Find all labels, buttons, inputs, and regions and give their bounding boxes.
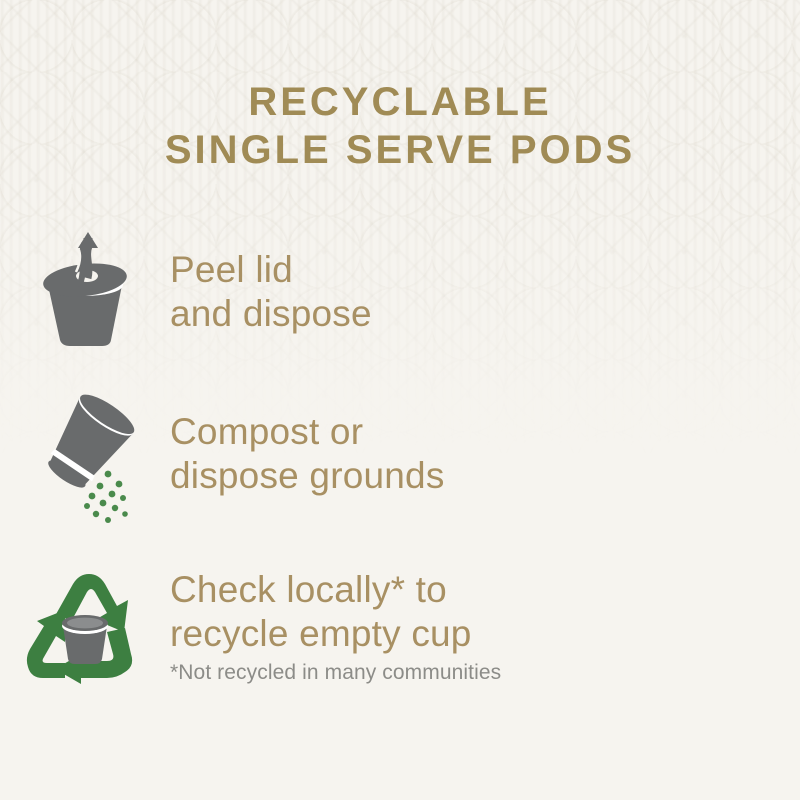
step-compost-grounds-text: Compost or dispose grounds [170, 410, 445, 498]
recycle-pod-icon [0, 558, 170, 685]
page-title: RECYCLABLE SINGLE SERVE PODS [0, 78, 800, 174]
steps-list: Peel lid and dispose [0, 222, 800, 726]
step-compost-grounds-body: Compost or dispose grounds [170, 390, 445, 498]
step-recycle-cup: Check locally* to recycle empty cup *Not… [0, 558, 800, 726]
step-recycle-cup-text: Check locally* to recycle empty cup [170, 568, 501, 656]
pod-pouring-grounds-icon [0, 390, 170, 530]
step-peel-lid-body: Peel lid and dispose [170, 222, 372, 336]
recyclable-pods-poster: RECYCLABLE SINGLE SERVE PODS [0, 0, 800, 800]
step-compost-grounds: Compost or dispose grounds [0, 390, 800, 558]
step-peel-lid: Peel lid and dispose [0, 222, 800, 390]
step-recycle-cup-body: Check locally* to recycle empty cup *Not… [170, 558, 501, 686]
pod-peel-lid-icon [0, 222, 170, 348]
pod-cup-center [62, 615, 108, 664]
step-recycle-cup-footnote: *Not recycled in many communities [170, 660, 501, 686]
step-peel-lid-text: Peel lid and dispose [170, 248, 372, 336]
